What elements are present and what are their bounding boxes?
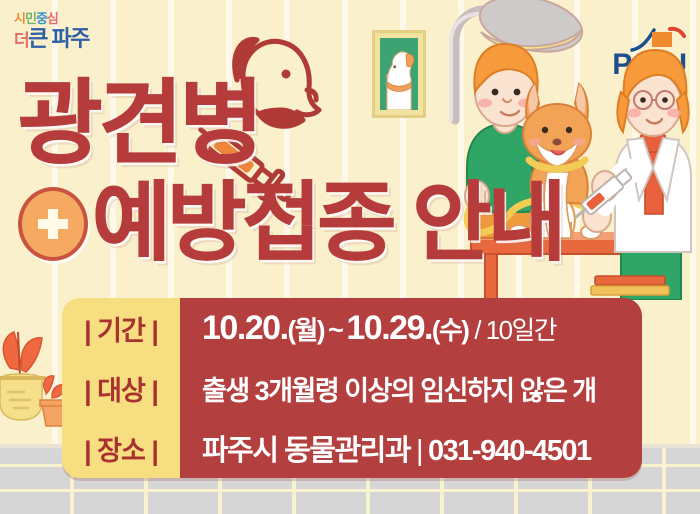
date-end: 10.29. [346,309,432,347]
value-row-period: 10.20.(월)~10.29.(수)/ 10일간 [180,298,642,358]
value-place: 파주시 동물관리과|031-940-4501 [180,427,591,469]
label-row-target: | 대상 | [62,358,180,418]
slogan-main-text: 더큰 파주 [14,28,134,50]
headline-line-1: 광견병 [18,80,488,168]
info-panel-labels: | 기간 | | 대상 | | 장소 | [62,298,180,478]
value-row-place: 파주시 동물관리과|031-940-4501 [180,418,642,478]
veterinarian-character [583,50,691,300]
place-divider: | [410,435,428,467]
label-target: | 대상 | [62,369,180,408]
place-name: 파주시 동물관리과 [202,435,410,467]
slogan-prefix: 더 [14,31,28,50]
value-target: 출생 3개월령 이상의 임신하지 않은 개 [180,369,596,408]
info-panel: | 기간 | | 대상 | | 장소 | 10.20.(월)~10.29.(수)… [62,298,642,478]
value-period: 10.20.(월)~10.29.(수)/ 10일간 [180,309,562,348]
date-range-tilde: ~ [324,314,346,345]
label-row-period: | 기간 | [62,298,180,358]
slogan-top-text: 시민중심 [14,12,134,25]
info-panel-values: 10.20.(월)~10.29.(수)/ 10일간 출생 3개월령 이상의 임신… [180,298,642,478]
day-start: (월) [288,317,324,345]
value-row-target: 출생 3개월령 이상의 임신하지 않은 개 [180,358,642,418]
slogan-main-label: 큰 파주 [28,26,89,51]
medical-cross-icon [18,187,88,261]
rabies-vaccination-poster: 시민중심 더큰 파주 PAJU [0,0,700,514]
duration: / 10일간 [468,317,562,345]
poster-headline: 광견병 예방접종 안내 [18,80,488,265]
headline-line-2-wrap: 예방접종 안내 [18,182,488,265]
slogan-char-4: 심 [47,11,58,26]
phone-number: 031-940-4501 [428,435,591,467]
headline-line-2: 예방접종 안내 [92,182,563,265]
label-period: | 기간 | [62,309,180,348]
slogan-char-3: 중 [36,11,47,26]
slogan-char-2: 민 [25,11,36,26]
label-row-place: | 장소 | [62,418,180,478]
city-slogan-logo: 시민중심 더큰 파주 [14,12,134,50]
slogan-char-1: 시 [14,11,25,26]
day-end: (수) [432,317,468,345]
label-place: | 장소 | [62,429,180,468]
date-start: 10.20. [202,309,288,347]
book-stack [595,276,665,285]
